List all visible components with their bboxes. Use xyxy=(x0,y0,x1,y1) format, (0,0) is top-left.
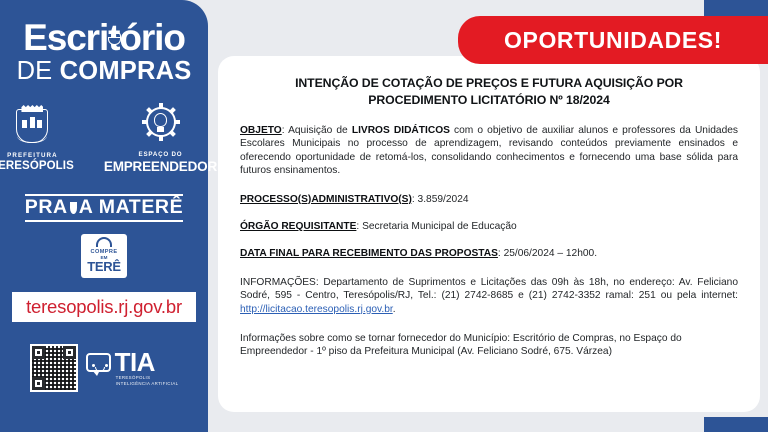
shopping-cart-icon xyxy=(108,35,121,47)
leaf-mark-icon xyxy=(68,201,79,215)
tia-sub-2: INTELIGÊNCIA ARTIFICIAL xyxy=(116,381,179,387)
objeto-paragraph: OBJETO: Aquisição de LIVROS DIDÁTICOS co… xyxy=(240,124,738,178)
brand-line-2: DE COMPRAS xyxy=(0,58,208,85)
logo-empreendedor-name: EMPREENDEDOR xyxy=(104,159,217,174)
fornecedor-paragraph: Informações sobre como se tornar fornece… xyxy=(240,332,738,359)
oportunidades-banner: OPORTUNIDADES! xyxy=(458,16,768,64)
website-url-text: teresopolis.rj.gov.br xyxy=(26,296,182,318)
data-final-value: : 25/06/2024 – 12h00. xyxy=(498,248,597,259)
chat-bubble-face-icon xyxy=(86,353,111,372)
bottom-right-accent-bar xyxy=(704,417,768,432)
informacoes-suffix: . xyxy=(393,304,396,315)
bag-line-3: TERÊ xyxy=(81,259,127,274)
praca-text-before: PRA xyxy=(25,196,68,218)
data-final-label: DATA FINAL PARA RECEBIMENTO DAS PROPOSTA… xyxy=(240,248,498,259)
website-url-bar[interactable]: teresopolis.rj.gov.br xyxy=(12,292,196,322)
brand-line-2-bold: COMPRAS xyxy=(60,57,192,85)
partner-logos-row: PREFEITURA TERESÓPOLIS ESPAÇO DO EMPREEN… xyxy=(0,105,208,174)
tia-logo-row: TIA TERESÓPOLIS INTELIGÊNCIA ARTIFICIAL xyxy=(30,344,179,392)
shopping-bag-icon xyxy=(96,237,112,247)
data-final-paragraph: DATA FINAL PARA RECEBIMENTO DAS PROPOSTA… xyxy=(240,247,738,260)
processo-value: : 3.859/2024 xyxy=(412,194,469,205)
fornecedor-text: Informações sobre como se tornar fornece… xyxy=(240,333,682,357)
tia-brand: TIA TERESÓPOLIS INTELIGÊNCIA ARTIFICIAL xyxy=(86,349,179,387)
compre-em-tere-logo: COMPRE EM TERÊ xyxy=(81,234,127,278)
licitacao-link[interactable]: http://licitacao.teresopolis.rj.gov.br xyxy=(240,304,393,315)
processo-label: PROCESSO(S)ADMINISTRATIVO(S) xyxy=(240,194,412,205)
page-title-line-2: PROCEDIMENTO LICITATÓRIO Nº 18/2024 xyxy=(368,93,610,107)
oportunidades-banner-label: OPORTUNIDADES! xyxy=(504,27,722,54)
informacoes-paragraph: INFORMAÇÕES: Departamento de Suprimentos… xyxy=(240,276,738,316)
orgao-label: ÓRGÃO REQUISITANTE xyxy=(240,221,356,232)
tia-word: TIA xyxy=(115,349,179,375)
orgao-value: : Secretaria Municipal de Educação xyxy=(356,221,516,232)
logo-prefeitura-caption: PREFEITURA xyxy=(0,152,74,160)
logo-empreendedor-caption: ESPAÇO DO xyxy=(104,151,217,159)
coat-of-arms-icon xyxy=(12,105,52,149)
objeto-prefix: : Aquisição de xyxy=(282,125,352,136)
praca-matere-logo: PRAA MATERÊ xyxy=(25,194,183,222)
page-title: INTENÇÃO DE COTAÇÃO DE PREÇOS E FUTURA A… xyxy=(240,75,738,109)
qr-code-icon[interactable] xyxy=(30,344,78,392)
brand-wordmark: Escritório DE COMPRAS xyxy=(0,18,208,85)
sidebar-panel: Escritório DE COMPRAS PREFEITURA TERESÓP… xyxy=(0,0,208,432)
praca-text-after: A MATERÊ xyxy=(79,196,183,218)
brand-line-1-text: Escritório xyxy=(23,17,185,58)
page-title-line-1: INTENÇÃO DE COTAÇÃO DE PREÇOS E FUTURA A… xyxy=(295,76,683,90)
objeto-highlight: LIVROS DIDÁTICOS xyxy=(352,125,450,136)
orgao-paragraph: ÓRGÃO REQUISITANTE: Secretaria Municipal… xyxy=(240,220,738,233)
objeto-label: OBJETO xyxy=(240,125,282,136)
brand-line-1: Escritório xyxy=(0,18,208,58)
brand-line-2-thin: DE xyxy=(17,57,60,85)
gear-lightbulb-icon xyxy=(140,105,180,147)
top-right-accent-bar xyxy=(704,0,768,16)
processo-paragraph: PROCESSO(S)ADMINISTRATIVO(S): 3.859/2024 xyxy=(240,193,738,206)
logo-prefeitura-name: TERESÓPOLIS xyxy=(0,160,74,173)
logo-prefeitura: PREFEITURA TERESÓPOLIS xyxy=(0,105,74,173)
informacoes-text: INFORMAÇÕES: Departamento de Suprimentos… xyxy=(240,277,738,301)
logo-empreendedor: ESPAÇO DO EMPREENDEDOR xyxy=(104,105,217,174)
notice-card: INTENÇÃO DE COTAÇÃO DE PREÇOS E FUTURA A… xyxy=(218,56,760,412)
